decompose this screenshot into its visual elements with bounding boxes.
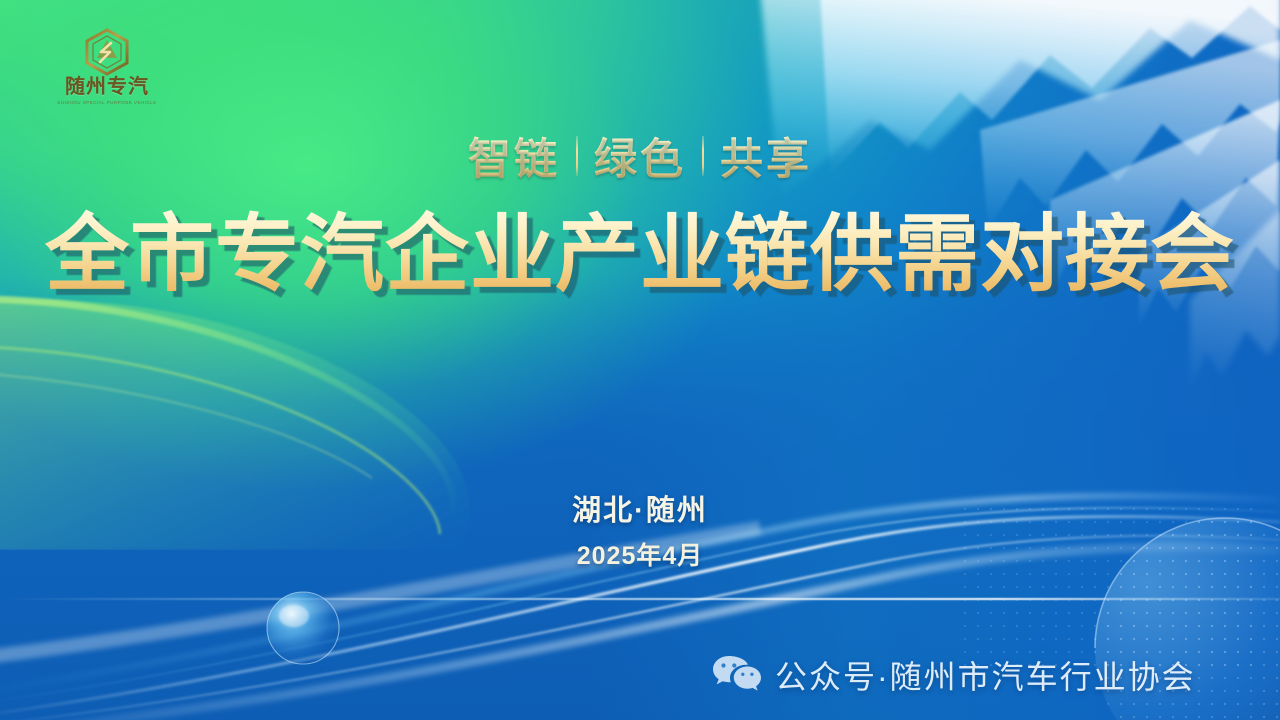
venue-block: 湖北·随州 2025年4月 <box>0 487 1280 572</box>
subtitle-word-2: 绿色 <box>578 125 702 187</box>
brand-logo[interactable]: 随州专汽 SUIZHOU SPECIAL PURPOSE VEHICLE <box>48 28 166 105</box>
poster-subtitle: 智链 绿色 共享 <box>0 126 1280 186</box>
venue-date: 2025年4月 <box>0 536 1280 572</box>
logo-brand-name: 随州专汽 <box>48 77 166 98</box>
poster-title: 全市专汽企业产业链供需对接会 全市专汽企业产业链供需对接会 <box>0 198 1280 310</box>
hexagon-emblem-icon <box>81 28 133 76</box>
event-poster: 随州专汽 SUIZHOU SPECIAL PURPOSE VEHICLE 智链 … <box>0 0 1280 720</box>
venue-city: 湖北·随州 <box>0 487 1280 529</box>
logo-brand-pinyin: SUIZHOU SPECIAL PURPOSE VEHICLE <box>47 100 167 105</box>
wechat-account-name: 公众号·随州市汽车行业协会 <box>775 652 1196 698</box>
poster-title-text: 全市专汽企业产业链供需对接会 全市专汽企业产业链供需对接会 <box>45 212 1235 296</box>
wechat-icon <box>712 654 762 696</box>
wechat-footer[interactable]: 公众号·随州市汽车行业协会 <box>712 652 1196 698</box>
subtitle-word-1: 智链 <box>452 125 576 187</box>
subtitle-word-3: 共享 <box>704 125 828 187</box>
poster-title-face: 全市专汽企业产业链供需对接会 <box>45 207 1235 301</box>
